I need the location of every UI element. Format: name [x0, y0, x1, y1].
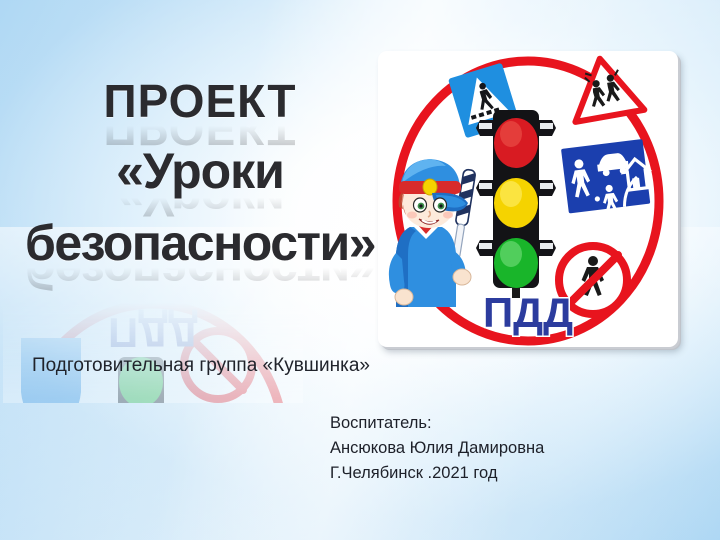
group-subtitle: Подготовительная группа «Кувшинка»: [32, 355, 370, 377]
credits-place-year: Г.Челябинск .2021 год: [330, 461, 544, 486]
road-safety-illustration-mirror: ПДД: [3, 298, 303, 403]
presentation-slide: ПРОЕКТ ПРОЕКТ «Уроки «Уроки безопасности…: [0, 0, 720, 540]
credits-name: Ансюкова Юлия Дамировна: [330, 436, 544, 461]
title-block: ПРОЕКТ ПРОЕКТ «Уроки «Уроки безопасности…: [0, 78, 400, 290]
pdd-caption: ПДД: [483, 289, 573, 336]
children-warning-sign: [565, 53, 644, 122]
credits-role: Воспитатель:: [330, 411, 544, 436]
illustration-panel-reflection: ПДД: [3, 298, 303, 403]
residential-zone-sign: [561, 139, 653, 217]
pdd-caption-mirror: ПДД: [108, 309, 198, 356]
illustration-panel[interactable]: ПДД: [378, 51, 678, 347]
title-line-3: безопасности»: [0, 218, 400, 268]
credits-block: Воспитатель: Ансюкова Юлия Дамировна Г.Ч…: [330, 411, 544, 486]
road-safety-illustration: ПДД: [378, 51, 678, 347]
title-line-1: ПРОЕКТ: [0, 78, 400, 124]
title-line-2: «Уроки: [0, 146, 400, 196]
traffic-light: [476, 110, 556, 298]
illustration-panel-wrapper: ПДД: [378, 51, 678, 347]
